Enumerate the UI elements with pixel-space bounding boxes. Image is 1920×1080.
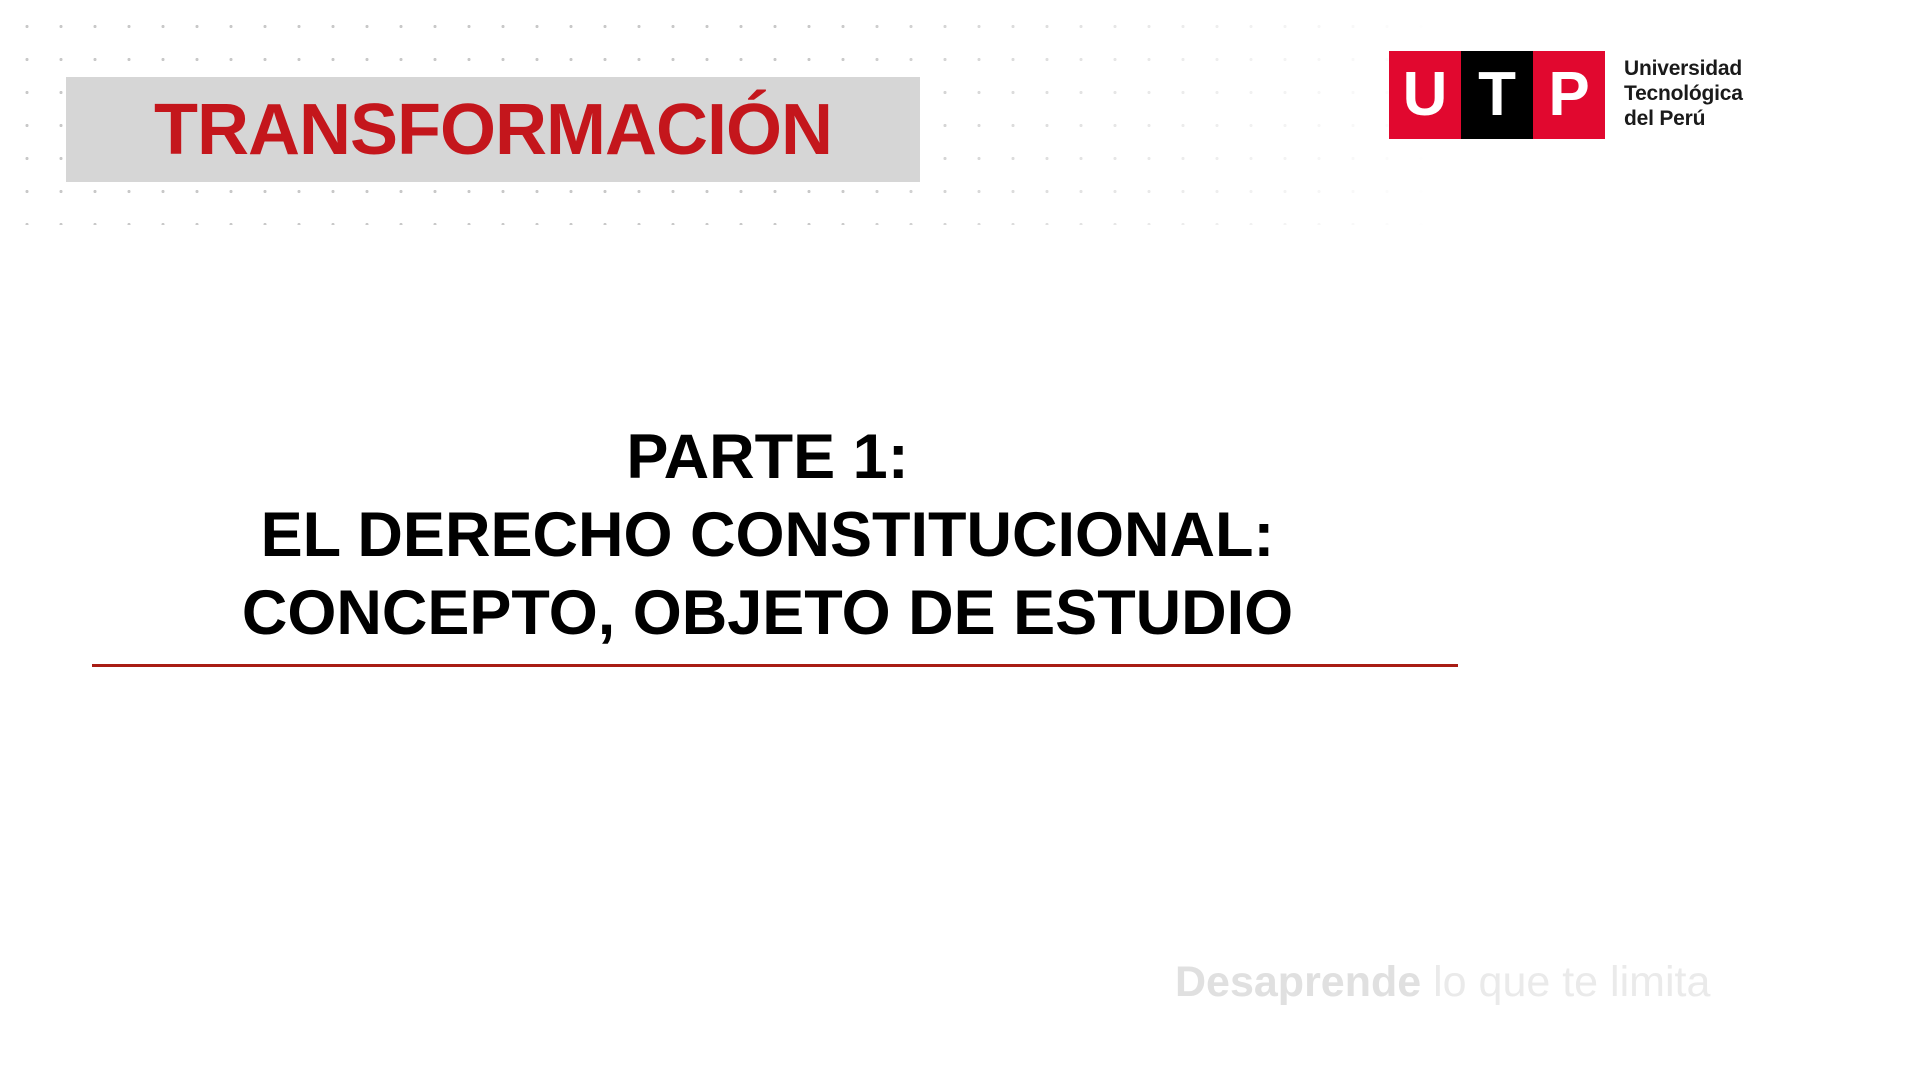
title-divider-rule bbox=[92, 664, 1458, 667]
slide-title: PARTE 1: EL DERECHO CONSTITUCIONAL: CONC… bbox=[0, 418, 1535, 652]
logo-tile-p: P bbox=[1533, 51, 1605, 139]
tagline-light-part: lo que te limita bbox=[1421, 958, 1710, 1006]
banner-label: TRANSFORMACIÓN bbox=[154, 94, 832, 166]
brand-tagline: Desaprende lo que te limita bbox=[1175, 961, 1710, 1004]
title-line-3: CONCEPTO, OBJETO DE ESTUDIO bbox=[0, 574, 1535, 652]
title-line-1: PARTE 1: bbox=[0, 418, 1535, 496]
utp-logo-tiles: U T P bbox=[1389, 51, 1605, 139]
logo-tile-t: T bbox=[1461, 51, 1533, 139]
logo-wordmark-line-1: Universidad bbox=[1624, 57, 1743, 82]
transformacion-banner: TRANSFORMACIÓN bbox=[66, 77, 920, 182]
utp-logo: U T P Universidad Tecnológica del Perú bbox=[1389, 51, 1743, 139]
tagline-bold-part: Desaprende bbox=[1175, 958, 1421, 1006]
logo-wordmark-line-3: del Perú bbox=[1624, 107, 1743, 132]
utp-logo-wordmark: Universidad Tecnológica del Perú bbox=[1624, 57, 1743, 131]
slide-canvas: TRANSFORMACIÓN U T P Universidad Tecnoló… bbox=[0, 0, 1920, 1080]
logo-wordmark-line-2: Tecnológica bbox=[1624, 82, 1743, 107]
title-line-2: EL DERECHO CONSTITUCIONAL: bbox=[0, 496, 1535, 574]
logo-tile-u: U bbox=[1389, 51, 1461, 139]
